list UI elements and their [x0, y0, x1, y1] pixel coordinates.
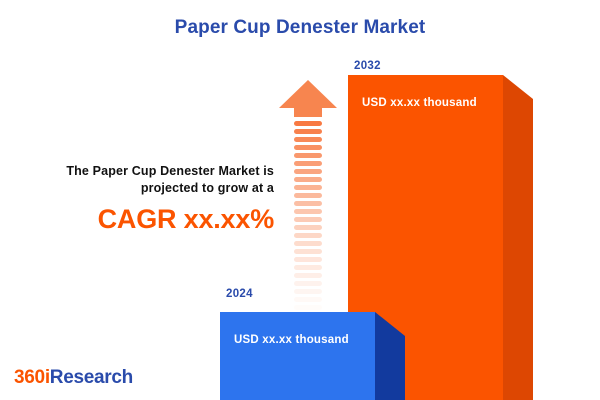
infographic-canvas: Paper Cup Denester Market The Paper Cup … [0, 0, 600, 400]
cagr-value: CAGR xx.xx% [22, 204, 274, 235]
year-label-2024: 2024 [226, 288, 253, 300]
year-label-2032: 2032 [354, 60, 381, 72]
arrow-head-icon [279, 80, 337, 116]
arrow-segment [294, 209, 322, 214]
upward-growth-arrow [279, 80, 337, 310]
arrow-segment [294, 297, 322, 302]
bar-2024: USD xx.xx thousand [220, 312, 405, 400]
growth-statement-lead: The Paper Cup Denester Market is project… [22, 163, 274, 197]
arrow-segment [294, 273, 322, 278]
logo-text-research: Research [50, 367, 133, 388]
arrow-segment [294, 137, 322, 142]
arrow-segment [294, 289, 322, 294]
bar-2024-side-face [375, 312, 405, 400]
arrow-head-neck [294, 107, 322, 117]
arrow-segment [294, 161, 322, 166]
bar-2024-value-label: USD xx.xx thousand [234, 334, 349, 346]
arrow-segment [294, 153, 322, 158]
bar-2024-front-face [220, 312, 375, 400]
arrow-segment [294, 225, 322, 230]
arrow-segment [294, 169, 322, 174]
logo-text-360: 360 [14, 367, 45, 388]
arrow-segment [294, 193, 322, 198]
brand-logo[interactable]: 360iResearch [14, 367, 133, 389]
growth-statement: The Paper Cup Denester Market is project… [22, 163, 274, 235]
arrow-segment [294, 185, 322, 190]
bar-2032-value-label: USD xx.xx thousand [362, 97, 477, 109]
arrow-segment [294, 257, 322, 262]
arrow-segment [294, 129, 322, 134]
arrow-segment-stack [294, 121, 322, 310]
arrow-segment [294, 121, 322, 126]
arrow-segment [294, 201, 322, 206]
bar-2032-side-face [503, 75, 533, 400]
arrow-segment [294, 305, 322, 310]
arrow-segment [294, 217, 322, 222]
arrow-head-triangle [279, 80, 337, 108]
arrow-segment [294, 145, 322, 150]
arrow-segment [294, 177, 322, 182]
arrow-segment [294, 241, 322, 246]
arrow-segment [294, 281, 322, 286]
arrow-segment [294, 233, 322, 238]
arrow-segment [294, 265, 322, 270]
arrow-segment [294, 249, 322, 254]
page-title: Paper Cup Denester Market [0, 17, 600, 39]
